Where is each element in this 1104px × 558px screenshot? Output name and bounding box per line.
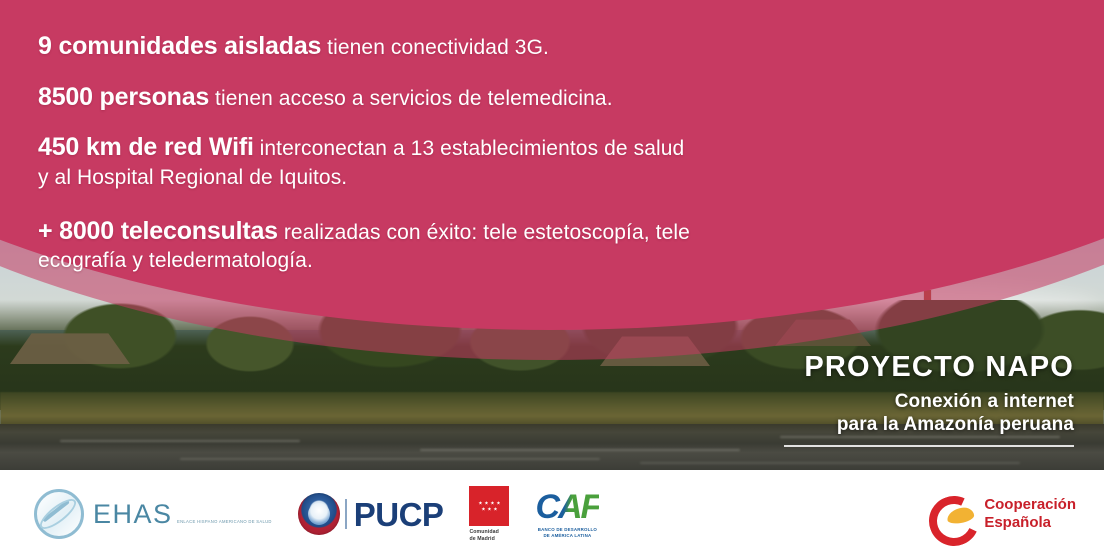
water-ripple (180, 458, 600, 460)
partner-logos-left: EHAS ENLACE HISPANO AMERICANO DE SALUD P… (34, 470, 599, 558)
pucp-crest-icon (298, 493, 340, 535)
stat-rest: tienen conectividad 3G. (321, 36, 549, 59)
madrid-line2: de Madrid (469, 536, 494, 542)
logo-footer-bar: EHAS ENLACE HISPANO AMERICANO DE SALUD P… (0, 470, 1104, 558)
cooperacion-espanola-wordmark: Cooperación Española (984, 496, 1076, 531)
infographic-poster: 9 comunidades aisladas tienen conectivid… (0, 0, 1104, 558)
water-ripple (420, 449, 740, 451)
logo-divider (345, 499, 347, 529)
ehas-tagline: ENLACE HISPANO AMERICANO DE SALUD (177, 519, 272, 524)
stat-item: 8500 personas tienen acceso a servicios … (38, 81, 698, 114)
project-subtitle-line2: para la Amazonía peruana (837, 414, 1074, 435)
caf-name: CAF (535, 490, 599, 524)
stat-lead: + 8000 teleconsultas (38, 217, 278, 245)
stat-lead: 450 km de red Wifi (38, 133, 254, 161)
logo-caf[interactable]: CAF BANCO DE DESARROLLO DE AMÉRICA LATIN… (535, 490, 599, 538)
coop-line2: Española (984, 514, 1051, 531)
star-icon (478, 501, 482, 505)
stat-item: 9 comunidades aisladas tienen conectivid… (38, 30, 698, 63)
cooperacion-espanola-icon (929, 494, 975, 534)
madrid-seven-stars (477, 501, 501, 511)
ehas-wordmark: EHAS ENLACE HISPANO AMERICANO DE SALUD (93, 501, 272, 528)
star-icon (484, 501, 488, 505)
stat-item: 450 km de red Wifi interconectan a 13 es… (38, 131, 698, 191)
coop-line1: Cooperación (984, 496, 1076, 513)
star-icon (496, 501, 500, 505)
logo-ehas[interactable]: EHAS ENLACE HISPANO AMERICANO DE SALUD (34, 489, 272, 539)
caf-tagline: BANCO DE DESARROLLO DE AMÉRICA LATINA (538, 527, 597, 538)
background-photo: 9 comunidades aisladas tienen conectivid… (0, 0, 1104, 470)
project-name: PROYECTO NAPO (744, 352, 1074, 384)
logo-cooperacion-espanola[interactable]: Cooperación Española (929, 494, 1076, 534)
madrid-line1: Comunidad (469, 529, 498, 535)
caf-tagline-line2: DE AMÉRICA LATINA (543, 533, 591, 538)
stat-lead: 9 comunidades aisladas (38, 32, 321, 60)
logo-pucp[interactable]: PUCP (298, 493, 444, 535)
star-icon (481, 507, 485, 511)
stat-lead: 8500 personas (38, 83, 209, 111)
star-icon (493, 507, 497, 511)
stat-rest: tienen acceso a servicios de telemedicin… (209, 87, 613, 110)
ehas-globe-icon (34, 489, 84, 539)
ehas-name: EHAS (93, 499, 173, 529)
water-ripple (640, 462, 1020, 464)
project-title-block: PROYECTO NAPO Conexión a internet para l… (744, 352, 1074, 447)
project-subtitle: Conexión a internet para la Amazonía per… (744, 390, 1074, 436)
caf-tagline-line1: BANCO DE DESARROLLO (538, 527, 597, 532)
star-icon (490, 501, 494, 505)
pucp-name: PUCP (354, 498, 444, 531)
stat-item: + 8000 teleconsultas realizadas con éxit… (38, 215, 698, 275)
logo-comunidad-de-madrid[interactable]: Comunidad de Madrid (469, 486, 509, 542)
partner-logos-right: Cooperación Española (929, 470, 1076, 558)
title-underline (784, 445, 1074, 447)
madrid-wordmark: Comunidad de Madrid (469, 529, 498, 542)
project-subtitle-line1: Conexión a internet (895, 391, 1074, 412)
star-icon (487, 507, 491, 511)
water-ripple (60, 440, 300, 442)
statistics-list: 9 comunidades aisladas tienen conectivid… (38, 30, 698, 275)
madrid-stars-icon (469, 486, 509, 526)
